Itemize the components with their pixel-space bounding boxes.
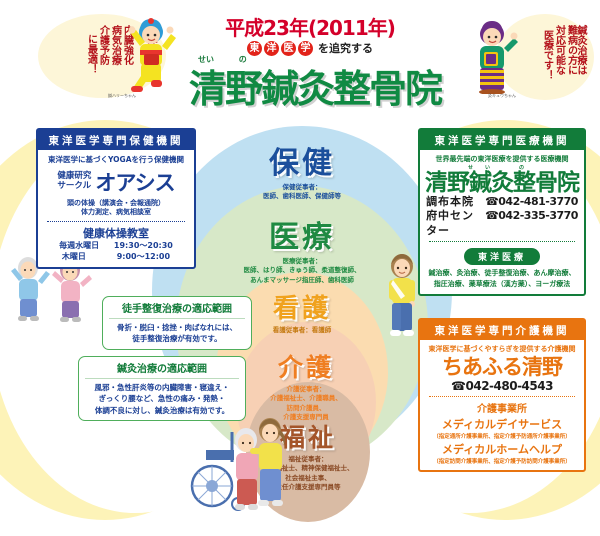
oasis-schedule-day-2: 木曜日 bbox=[62, 252, 114, 263]
panel-care-lead: 東洋医学に基づくやすらぎを提供する介護機関 bbox=[425, 344, 579, 354]
box-manual-therapy-scope: 徒手整復治療の適応範囲 骨折・脱臼・捻挫・肉ばなれには、 徒手整復治療が有効です… bbox=[102, 296, 252, 350]
bubble-right-line-2: 難病の方に bbox=[566, 25, 577, 75]
oasis-schedule-row-2: 木曜日 9:00〜12:00 bbox=[43, 252, 189, 263]
clinic-treatment-line-1: 鍼治療、灸治療、徒手整復治療、あん摩治療、 bbox=[425, 268, 579, 279]
clinic-divider bbox=[429, 241, 575, 242]
box-manual-divider bbox=[109, 318, 245, 319]
circle-roles-kaigo-1: 介護福祉士、介護職員、 bbox=[236, 394, 376, 403]
oasis-schedule-row-1: 毎週水曜日 19:30〜20:30 bbox=[43, 241, 189, 252]
oasis-name-big: オアシス bbox=[95, 167, 174, 197]
wheelchair-care-illustration bbox=[188, 406, 296, 516]
box-acupuncture-line-2: ぎっくり腰など、急性の痛み・発熱・ bbox=[83, 393, 241, 404]
oasis-divider bbox=[47, 221, 185, 222]
panel-clinic-header: 東洋医学専門医療機関 bbox=[420, 130, 584, 150]
mascot-right-caption: 灸キュウちゃん bbox=[488, 93, 516, 99]
clinic-branch-label-1: 調布本院 bbox=[426, 195, 480, 209]
bubble-right-line-3: 対応可能な bbox=[554, 25, 565, 75]
clinic-branch-row-1: 調布本院 ☎042-481-3770 bbox=[425, 195, 579, 209]
poster-canvas: 保健 保健従事者： 医師、歯科医師、保健師等 医療 医療従事者： 医師、はり師、… bbox=[0, 0, 600, 536]
mascot-hari-chan bbox=[124, 16, 176, 94]
care-tel[interactable]: ☎042-480-4543 bbox=[425, 379, 579, 393]
panel-care: 東洋医学専門介護機関 東洋医学に基づくやすらぎを提供する介護機関 ちあふる清野 … bbox=[418, 318, 586, 472]
bubble-left-line-5: に最適！ bbox=[86, 34, 97, 74]
box-acupuncture-line-1: 風邪・急性肝炎等の内臓障害・寝違え・ bbox=[83, 382, 241, 393]
panel-oasis: 東洋医学専門保健機関 東洋医学に基づくYOGAを行う保健機関 健康研究 サークル… bbox=[36, 128, 196, 269]
care-service-note-2: （指定訪問介護事業所、指定介護予防訪問介護事業所） bbox=[425, 457, 579, 465]
panel-oasis-header: 東洋医学専門保健機関 bbox=[38, 130, 194, 150]
panel-oasis-name-row: 健康研究 サークル オアシス bbox=[43, 167, 189, 197]
oasis-class-title: 健康体操教室 bbox=[43, 225, 189, 241]
clinic-category-pill: 東洋医療 bbox=[464, 248, 540, 265]
oasis-name-small-2: サークル bbox=[57, 182, 91, 192]
subtitle-tail: を追究する bbox=[318, 40, 373, 56]
year-label: 平成23年(2011年) bbox=[190, 12, 430, 41]
care-divider bbox=[429, 396, 575, 397]
kanji-chip-3: 医 bbox=[281, 41, 296, 56]
oasis-schedule-day-1: 毎週水曜日 bbox=[59, 241, 111, 252]
care-service-note-1: （指定通所介護事業所、指定介護予防通所介護事業所） bbox=[425, 432, 579, 440]
care-name: ちあふる清野 bbox=[425, 356, 579, 379]
circle-title-hoken: 保健 bbox=[152, 138, 452, 182]
box-manual-line-2: 徒手整復治療が有効です。 bbox=[107, 333, 247, 344]
box-acupuncture-title: 鍼灸治療の適応範囲 bbox=[83, 360, 241, 375]
mascot-left-caption: 鍼ハリーちゃん bbox=[108, 93, 136, 99]
box-manual-line-1: 骨折・脱臼・捻挫・肉ばなれには、 bbox=[107, 322, 247, 333]
panel-oasis-lead: 東洋医学に基づくYOGAを行う保健機関 bbox=[43, 154, 189, 165]
panel-clinic-lead: 世界最先端の東洋医療を提供する医療機関 bbox=[425, 154, 579, 164]
circle-label-hoken: 保健 保健従事者： 医師、歯科医師、保健師等 bbox=[152, 138, 452, 202]
bubble-left-line-4-wrap: 介護予防 bbox=[96, 25, 109, 87]
care-subtitle: 介護事業所 bbox=[425, 400, 579, 415]
bubble-left-line-3: 病気治療 bbox=[110, 25, 121, 65]
panel-clinic: 東洋医学専門医療機関 世界最先端の東洋医療を提供する医療機関 せい の 清野鍼灸… bbox=[418, 128, 586, 296]
bubble-right-line-2-wrap: 難病の方に bbox=[564, 25, 577, 91]
bubble-right-line-4: 医療です！ bbox=[542, 30, 553, 80]
care-service-name-2: メディカルホームヘルプ bbox=[425, 441, 579, 457]
bubble-left-line-5-wrap: に最適！ bbox=[84, 34, 97, 84]
box-acupuncture-line-3: 体調不良に対し、鍼灸治療は有効です。 bbox=[83, 405, 241, 416]
kanji-chip-4: 学 bbox=[298, 41, 313, 56]
clinic-branch-row-2: 府中センター ☎042-335-3770 bbox=[425, 209, 579, 238]
circle-roles-label-kaigo: 介護従事者： bbox=[236, 385, 376, 394]
oasis-schedule-time-1: 19:30〜20:30 bbox=[114, 241, 173, 250]
box-acupuncture-divider bbox=[85, 378, 239, 379]
circle-title-kaigo: 介護 bbox=[236, 348, 376, 384]
circle-roles-hoken: 医師、歯科医師、保健師等 bbox=[152, 192, 452, 201]
mascot-kyu-chan bbox=[466, 18, 518, 94]
circle-roles-label-hoken: 保健従事者： bbox=[152, 183, 452, 192]
care-service-name-1: メディカルデイサービス bbox=[425, 416, 579, 432]
bubble-right-line-4-wrap: 医療です！ bbox=[540, 30, 553, 90]
bubble-left-line-3-wrap: 病気治療 bbox=[108, 25, 121, 87]
clinic-branch-tel-1[interactable]: ☎042-481-3770 bbox=[485, 195, 578, 209]
bubble-left-line-4: 介護予防 bbox=[98, 25, 109, 65]
bubble-right-line-3-wrap: 対応可能な bbox=[552, 25, 565, 91]
box-acupuncture-scope: 鍼灸治療の適応範囲 風邪・急性肝炎等の内臓障害・寝違え・ ぎっくり腰など、急性の… bbox=[78, 356, 246, 421]
clinic-branch-tel-2[interactable]: ☎042-335-3770 bbox=[485, 209, 578, 223]
clinic-treatment-line-2: 指圧治療、薬草療法（漢方薬）、ヨーガ療法 bbox=[425, 279, 579, 290]
clinic-branch-label-2: 府中センター bbox=[426, 209, 480, 238]
oasis-schedule-time-2: 9:00〜12:00 bbox=[117, 252, 170, 261]
box-manual-title: 徒手整復治療の適応範囲 bbox=[107, 300, 247, 315]
panel-care-header: 東洋医学専門介護機関 bbox=[420, 320, 584, 340]
page-title: 清野鍼灸整骨院 bbox=[180, 58, 450, 113]
oasis-note-2: 体力測定、病気相談室 bbox=[43, 208, 189, 217]
clinic-name: 清野鍼灸整骨院 bbox=[425, 171, 579, 195]
